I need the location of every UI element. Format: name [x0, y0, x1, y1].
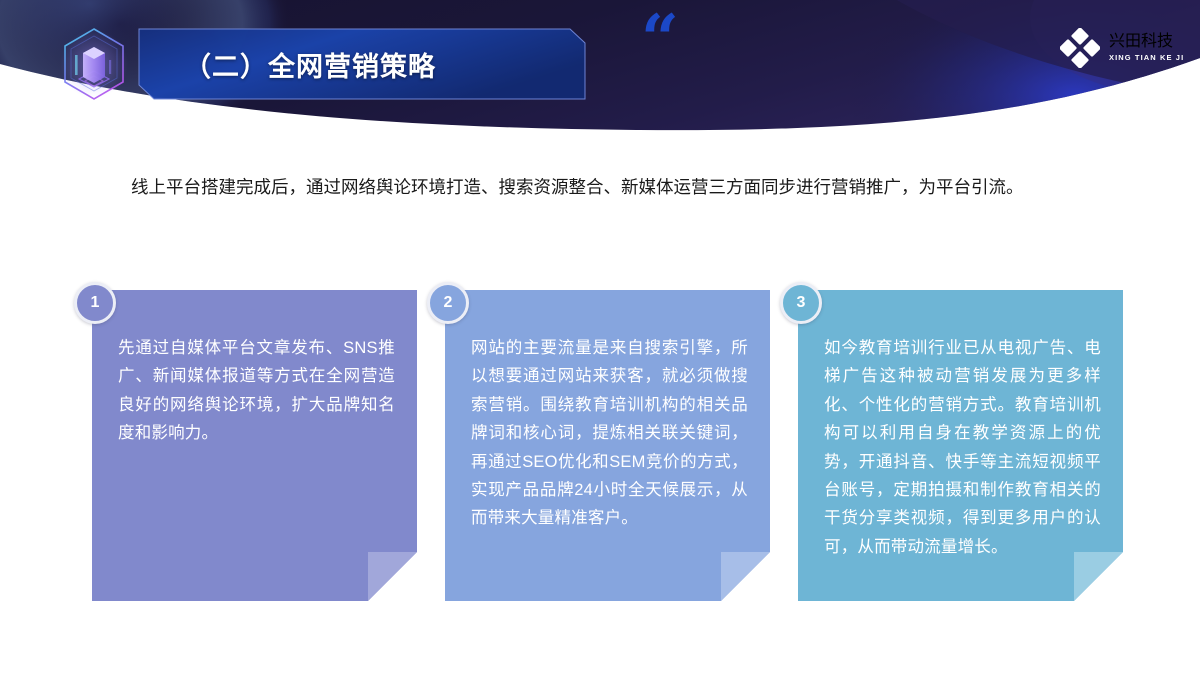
- card-number-badge: 1: [74, 282, 116, 324]
- strategy-card-3: 3 如今教育培训行业已从电视广告、电梯广告这种被动营销发展为更多样化、个性化的营…: [798, 290, 1123, 601]
- four-diamonds-logo-icon: [1060, 28, 1100, 68]
- quote-mark-icon: “: [641, 16, 680, 62]
- strategy-card-2: 2 网站的主要流量是来自搜索引擎，所以想要通过网站来获客，就必须做搜索营销。围绕…: [445, 290, 770, 601]
- brand-logo: 兴田科技 XING TIAN KE JI: [1060, 28, 1184, 68]
- strategy-card-1: 1 先通过自媒体平台文章发布、SNS推广、新闻媒体报道等方式在全网营造良好的网络…: [92, 290, 417, 601]
- card-body-text: 先通过自媒体平台文章发布、SNS推广、新闻媒体报道等方式在全网营造良好的网络舆论…: [118, 334, 395, 448]
- card-body-text: 网站的主要流量是来自搜索引擎，所以想要通过网站来获客，就必须做搜索营销。围绕教育…: [471, 334, 748, 533]
- brand-name-en: XING TIAN KE JI: [1109, 54, 1184, 62]
- strategy-cards: 1 先通过自媒体平台文章发布、SNS推广、新闻媒体报道等方式在全网营造良好的网络…: [92, 290, 1118, 610]
- intro-paragraph: 线上平台搭建完成后，通过网络舆论环境打造、搜索资源整合、新媒体运营三方面同步进行…: [96, 170, 1106, 205]
- page-title: （二）全网营销策略: [184, 28, 436, 100]
- card-number-badge: 3: [780, 282, 822, 324]
- card-body-text: 如今教育培训行业已从电视广告、电梯广告这种被动营销发展为更多样化、个性化的营销方…: [824, 334, 1101, 561]
- slide-title-ribbon: （二）全网营销策略: [138, 28, 586, 100]
- brand-name-cn: 兴田科技: [1109, 34, 1184, 50]
- cube-hexagon-icon: [52, 22, 136, 106]
- card-number-badge: 2: [427, 282, 469, 324]
- slide-header: （二）全网营销策略 “ 兴田科技 XING TIAN KE JI: [0, 0, 1200, 135]
